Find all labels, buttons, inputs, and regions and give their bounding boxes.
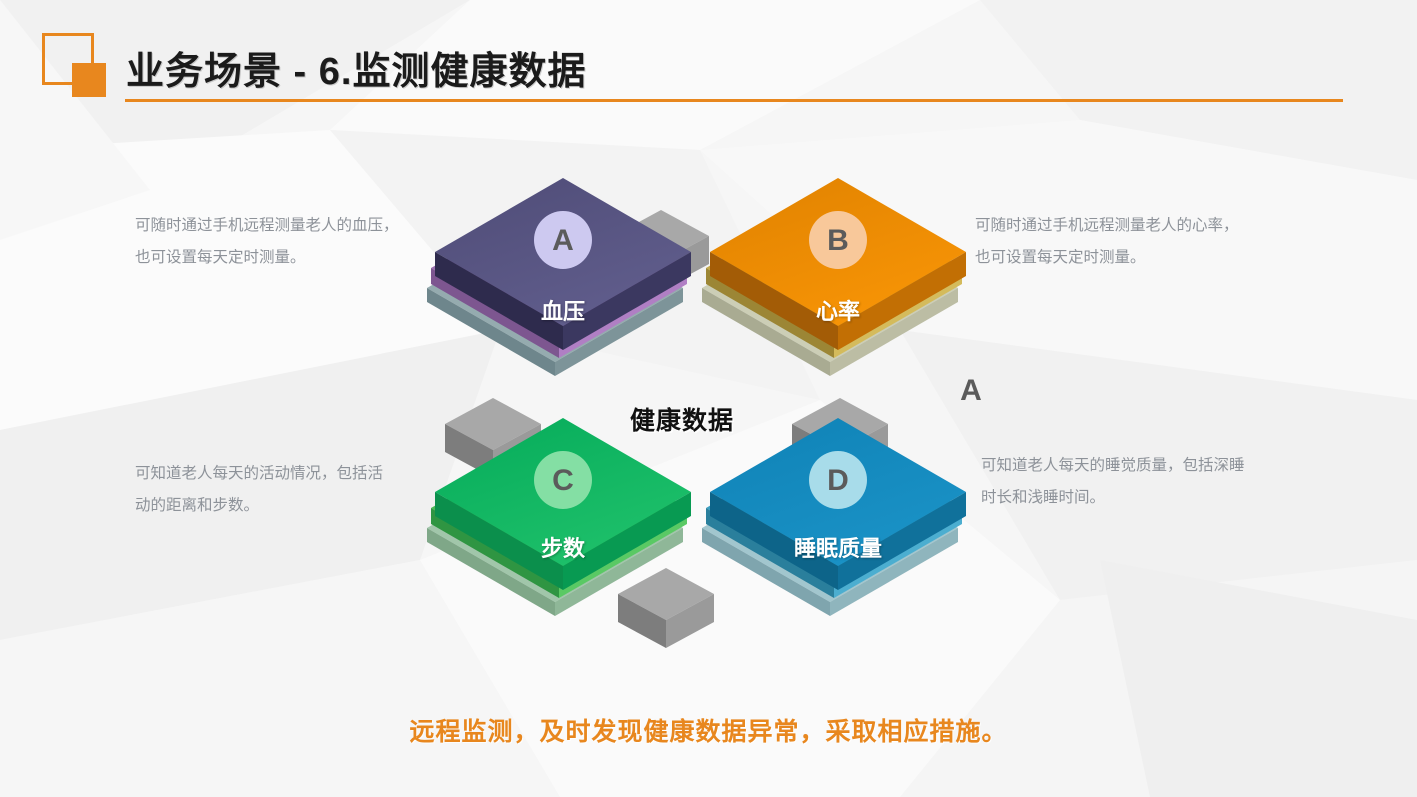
description-line: 可知道老人每天的睡觉质量，包括深睡 [981, 450, 1245, 482]
description-line: 可随时通过手机远程测量老人的心率， [975, 210, 1239, 242]
description-line: 时长和浅睡时间。 [981, 482, 1245, 514]
slide-canvas: 业务场景 - 6.监测健康数据 可随时通过手机远程测量老人的血压， 也可设置每天… [0, 0, 1417, 797]
block-blood-pressure[interactable] [427, 178, 691, 376]
description-line: 也可设置每天定时测量。 [135, 242, 399, 274]
block-name-b: 心率 [816, 294, 860, 326]
block-name-d: 睡眠质量 [794, 531, 882, 563]
description-sleep-quality: 可知道老人每天的睡觉质量，包括深睡 时长和浅睡时间。 [981, 450, 1245, 514]
block-name-a: 血压 [541, 294, 585, 326]
block-letter-a-label: A [535, 224, 591, 258]
block-letter-d-label: D [810, 464, 866, 498]
description-steps: 可知道老人每天的活动情况，包括活 动的距离和步数。 [135, 458, 383, 522]
description-line: 动的距离和步数。 [135, 490, 383, 522]
title-divider [125, 99, 1343, 102]
center-label: 健康数据 [630, 401, 734, 437]
description-line: 也可设置每天定时测量。 [975, 242, 1239, 274]
connector-block-bottom [618, 568, 714, 648]
block-name-c: 步数 [541, 531, 585, 563]
page-title: 业务场景 - 6.监测健康数据 [126, 40, 586, 95]
block-letter-a: A [943, 374, 999, 408]
block-heart-rate[interactable] [702, 178, 966, 376]
block-letter-b-label: B [810, 224, 866, 258]
description-line: 可知道老人每天的活动情况，包括活 [135, 458, 383, 490]
description-line: 可随时通过手机远程测量老人的血压， [135, 210, 399, 242]
logo-filled-square [72, 63, 106, 97]
description-blood-pressure: 可随时通过手机远程测量老人的血压， 也可设置每天定时测量。 [135, 210, 399, 274]
block-letter-c-label: C [535, 464, 591, 498]
block-sleep-quality[interactable] [702, 418, 966, 616]
description-heart-rate: 可随时通过手机远程测量老人的心率， 也可设置每天定时测量。 [975, 210, 1239, 274]
footer-note: 远程监测，及时发现健康数据异常，采取相应措施。 [0, 712, 1417, 748]
